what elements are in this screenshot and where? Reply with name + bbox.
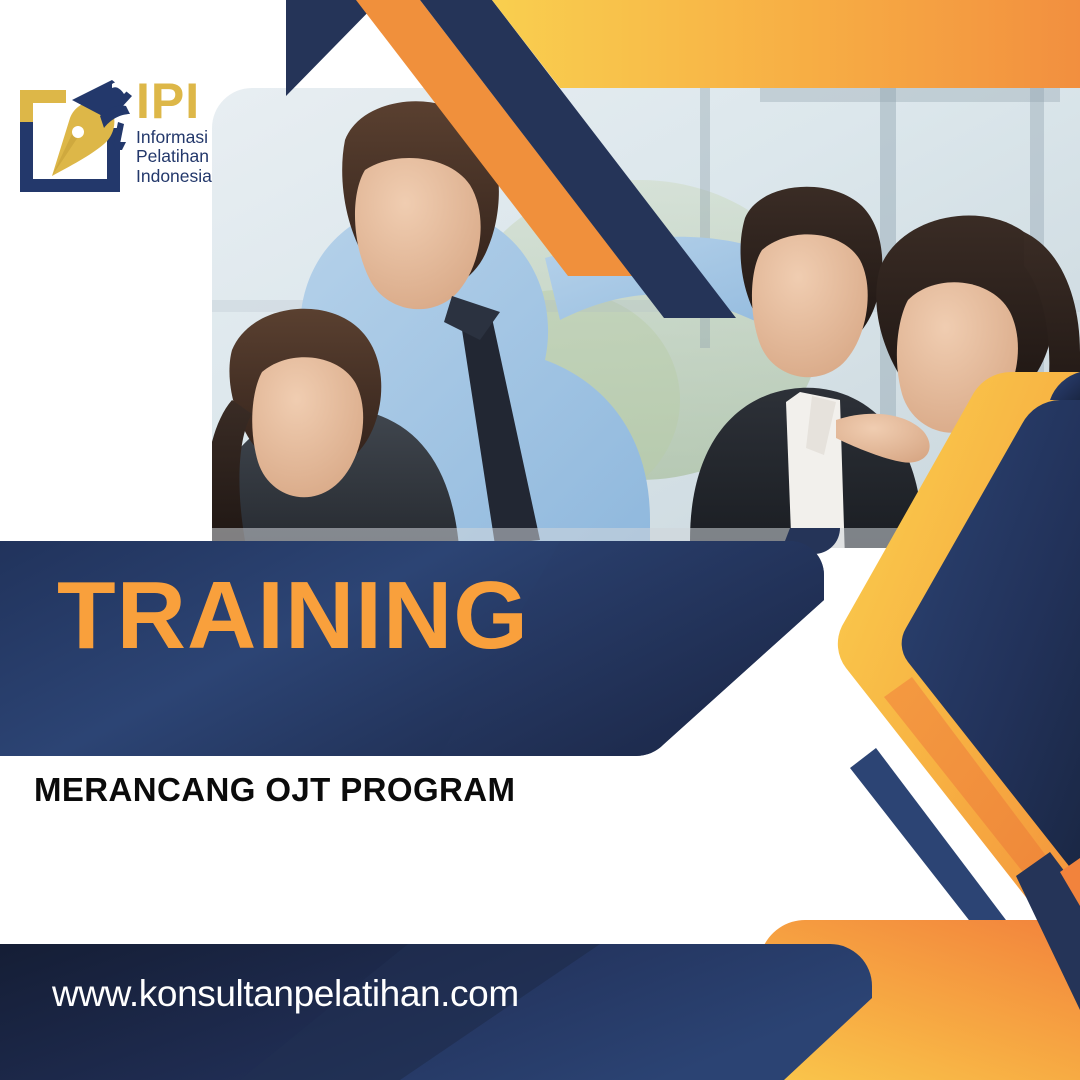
brand-name-line3: Indonesia bbox=[136, 167, 228, 187]
brand-fullname: Informasi Pelatihan Indonesia bbox=[136, 128, 228, 188]
brand-name-line1: Informasi bbox=[136, 128, 228, 148]
top-gradient-band bbox=[492, 0, 1080, 88]
page-title: TRAINING bbox=[57, 568, 529, 664]
course-subtitle: MERANCANG OJT PROGRAM bbox=[34, 771, 515, 809]
graduation-cap-pen-nib-icon bbox=[14, 78, 134, 198]
brand-wordmark: IPI Informasi Pelatihan Indonesia bbox=[136, 78, 228, 187]
brand-name-line2: Pelatihan bbox=[136, 147, 228, 167]
brand-logo[interactable]: IPI Informasi Pelatihan Indonesia bbox=[14, 78, 224, 208]
navy-triangle-top-left bbox=[286, 0, 380, 96]
website-url[interactable]: www.konsultanpelatihan.com bbox=[52, 973, 519, 1015]
brand-acronym: IPI bbox=[136, 78, 228, 126]
poster-canvas: IPI Informasi Pelatihan Indonesia TRAINI… bbox=[0, 0, 1080, 1080]
